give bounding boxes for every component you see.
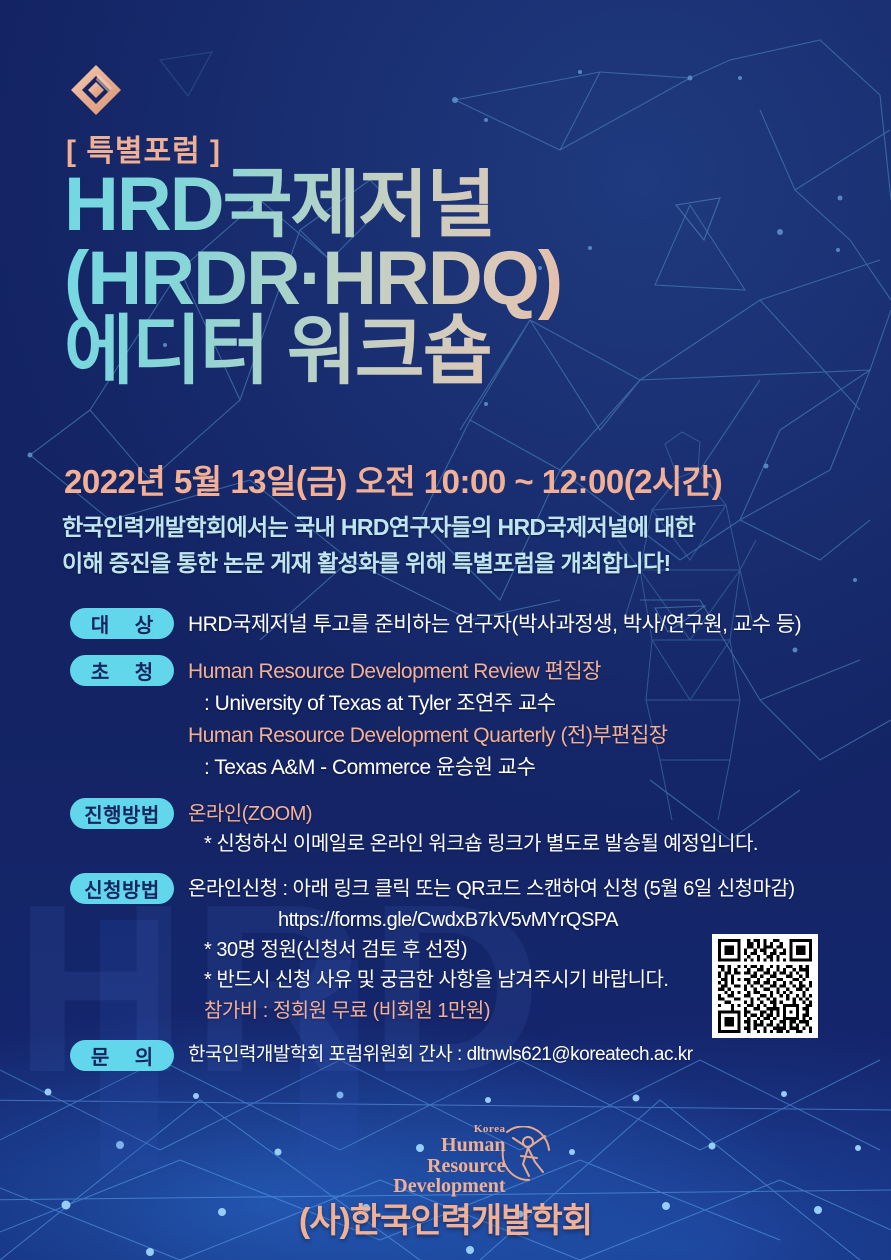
label-invited: 초 청 <box>70 655 174 686</box>
event-description: 한국인력개발학회에서는 국내 HRD연구자들의 HRD국제저널에 대한 이해 증… <box>62 510 695 581</box>
info-row-invited: 초 청 Human Resource Development Review 편집… <box>0 655 891 784</box>
apply-form-link[interactable]: https://forms.gle/CwdxB7kV5vMYrQSPA <box>188 905 708 935</box>
khrd-logo-line3: Development <box>331 1176 506 1196</box>
invited-journal-1: Human Resource Development Review 편집장 <box>188 656 891 688</box>
method-note: * 신청하신 이메일로 온라인 워크숍 링크가 별도로 발송될 예정입니다. <box>188 829 891 859</box>
khrd-logo-line2: Resource <box>331 1156 506 1176</box>
organization-name: (사)한국인력개발학회 <box>0 1193 891 1242</box>
label-audience: 대 상 <box>70 608 174 639</box>
khrd-logo-text: Korea Human Resource Development <box>331 1124 506 1196</box>
audience-text: HRD국제저널 투고를 준비하는 연구자(박사과정생, 박사/연구원, 교수 등… <box>188 609 891 641</box>
contact-text[interactable]: 한국인력개발학회 포럼위원회 간사 : dltnwls621@koreatech… <box>188 1041 891 1070</box>
label-method: 진행방법 <box>70 798 174 829</box>
qr-code[interactable] <box>712 934 818 1038</box>
method-value: 온라인(ZOOM) <box>188 799 891 829</box>
apply-instruction: 온라인신청 : 아래 링크 클릭 또는 QR코드 스캔하여 신청 (5월 6일 … <box>188 874 891 904</box>
society-diamond-logo-icon <box>68 62 124 118</box>
event-datetime: 2022년 5월 13일(금) 오전 10:00 ~ 12:00(2시간) <box>64 455 722 503</box>
invited-journal-2: Human Resource Development Quarterly (전)… <box>188 720 891 752</box>
label-contact: 문 의 <box>70 1040 174 1071</box>
khrd-logo-figure-icon <box>499 1126 557 1184</box>
info-row-contact: 문 의 한국인력개발학회 포럼위원회 간사 : dltnwls621@korea… <box>0 1040 891 1071</box>
label-apply: 신청방법 <box>70 873 174 904</box>
page-title: HRD국제저널 (HRDR·HRDQ) 에디터 워크숍 <box>64 168 724 389</box>
invited-speaker-2: : Texas A&M - Commerce 윤승원 교수 <box>188 752 891 784</box>
footer: Korea Human Resource Development <box>0 1122 891 1242</box>
info-row-audience: 대 상 HRD국제저널 투고를 준비하는 연구자(박사과정생, 박사/연구원, … <box>0 608 891 641</box>
info-row-method: 진행방법 온라인(ZOOM) * 신청하신 이메일로 온라인 워크숍 링크가 별… <box>0 798 891 860</box>
khrd-logo: Korea Human Resource Development <box>331 1122 561 1184</box>
invited-speaker-1: : University of Texas at Tyler 조연주 교수 <box>188 688 891 720</box>
event-poster: HRD [ 특별포럼 ] HRD국제저널 (HRDR·HRDQ) 에디터 워크숍… <box>0 0 891 1260</box>
qr-code-image <box>717 939 813 1033</box>
khrd-logo-line1: Human <box>331 1135 506 1155</box>
